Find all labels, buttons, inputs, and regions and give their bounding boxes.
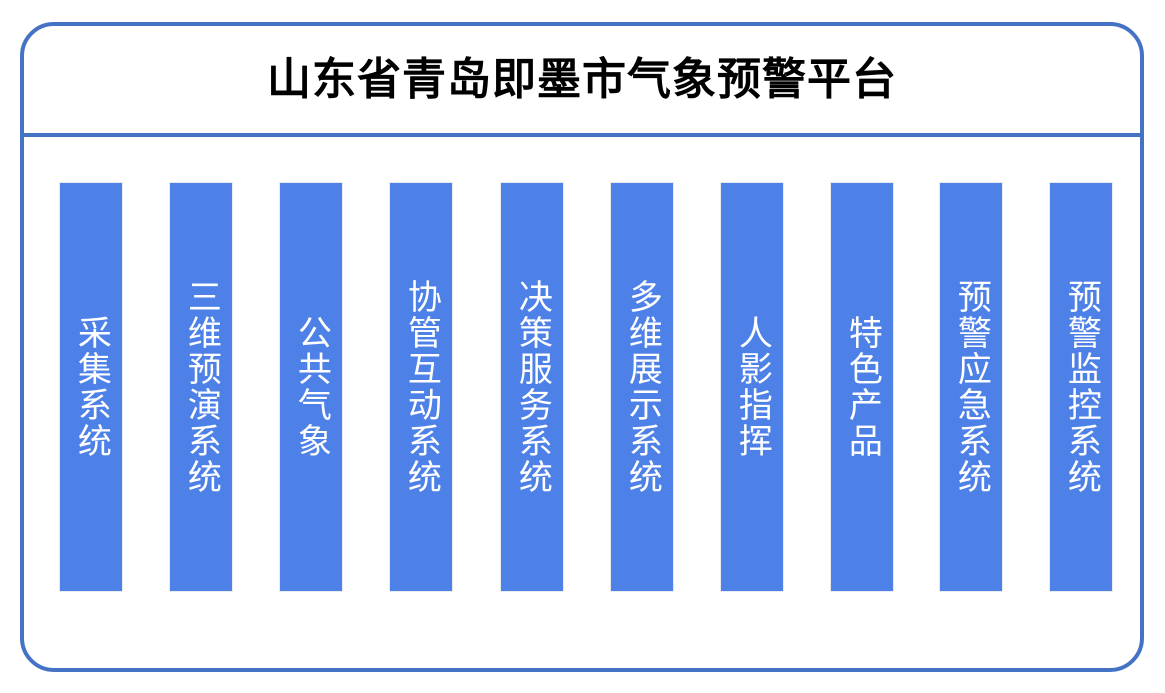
pillar-duowei-zhanshi-xitong[interactable]: 多维展示系统 (610, 182, 674, 592)
pillar-label: 采集系统 (73, 315, 110, 459)
diagram-title: 山东省青岛即墨市气象预警平台 (267, 58, 897, 102)
pillar-label: 三维预演系统 (183, 279, 220, 495)
diagram-frame: 山东省青岛即墨市气象预警平台 采集系统 三维预演系统 公共气象 协管互动系统 决… (20, 22, 1144, 672)
pillar-gonggong-qixiang[interactable]: 公共气象 (279, 182, 343, 592)
pillar-yujing-jiankong-xitong[interactable]: 预警监控系统 (1049, 182, 1113, 592)
pillar-label: 预警应急系统 (953, 279, 990, 495)
pillar-juece-fuwu-xitong[interactable]: 决策服务系统 (500, 182, 564, 592)
title-band: 山东省青岛即墨市气象预警平台 (24, 26, 1140, 137)
pillar-label: 特色产品 (844, 315, 881, 459)
pillar-xieguan-hudong-xitong[interactable]: 协管互动系统 (389, 182, 453, 592)
platform-architecture-diagram: 山东省青岛即墨市气象预警平台 采集系统 三维预演系统 公共气象 协管互动系统 决… (0, 0, 1165, 693)
pillar-renying-zhihui[interactable]: 人影指挥 (720, 182, 784, 592)
pillar-label: 预警监控系统 (1063, 279, 1100, 495)
pillar-label: 人影指挥 (734, 315, 771, 459)
pillar-tese-chanpin[interactable]: 特色产品 (830, 182, 894, 592)
pillar-label: 公共气象 (293, 315, 330, 459)
pillar-label: 协管互动系统 (403, 279, 440, 495)
pillar-row: 采集系统 三维预演系统 公共气象 协管互动系统 决策服务系统 多维展示系统 人影… (24, 137, 1140, 668)
pillar-yujing-yingji-xitong[interactable]: 预警应急系统 (939, 182, 1003, 592)
pillar-label: 多维展示系统 (624, 279, 661, 495)
pillar-caiji-xitong[interactable]: 采集系统 (59, 182, 123, 592)
pillar-sanwei-yuyan-xitong[interactable]: 三维预演系统 (169, 182, 233, 592)
pillar-label: 决策服务系统 (514, 279, 551, 495)
